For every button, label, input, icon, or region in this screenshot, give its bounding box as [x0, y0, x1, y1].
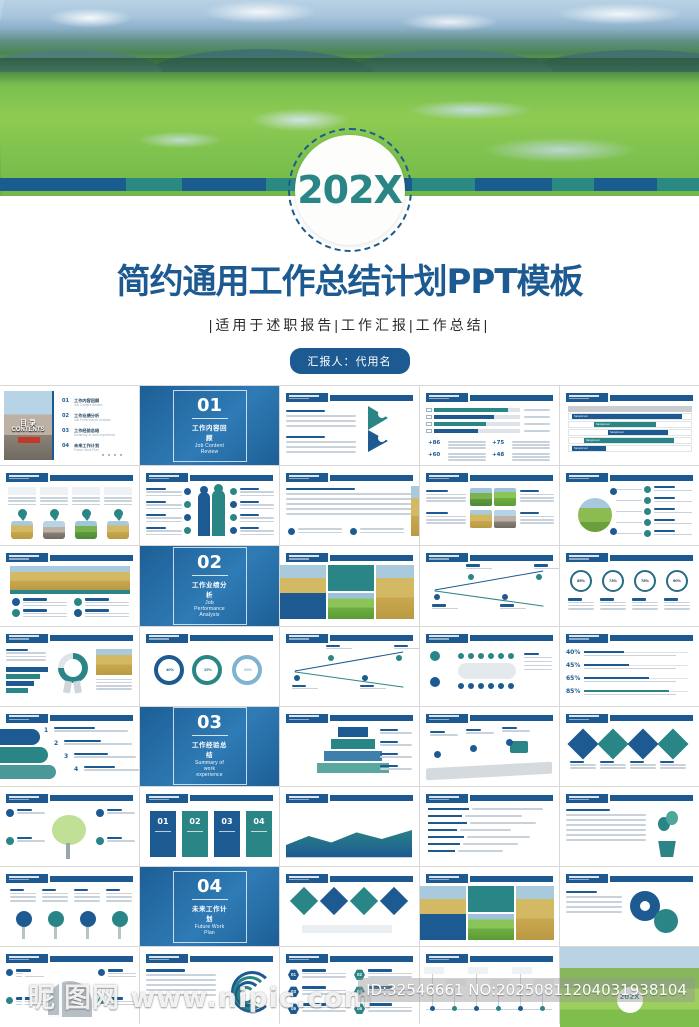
placeholder-text-line [72, 500, 100, 502]
slide-header-bar [50, 555, 133, 561]
section-divider-title-en: Job Performance Analysis [192, 600, 228, 618]
meeting-person-icon [458, 653, 464, 659]
meeting-person-icon [508, 683, 514, 689]
feature-bullet-icon [230, 514, 237, 521]
placeholder-text-line [520, 497, 554, 499]
slide-thumbnail[interactable] [280, 466, 419, 545]
placeholder-text-line [466, 568, 492, 570]
pin-card-title [8, 487, 36, 495]
bullet-icon [350, 528, 357, 535]
slide-header-sub-line [149, 799, 169, 800]
split-block-teal [328, 565, 374, 591]
placeholder-text-line [512, 459, 550, 461]
slide-thumbnail[interactable]: 02工作业绩分析Job Performance Analysis [140, 546, 279, 625]
list-text-line [458, 850, 504, 852]
contents-accent [18, 437, 40, 443]
placeholder-text-line [360, 532, 404, 534]
year-badge-text: 202X [297, 168, 402, 212]
placeholder-text-line [107, 812, 135, 814]
slide-header-tag [566, 714, 608, 723]
slide-thumbnail[interactable] [0, 466, 139, 545]
slide-header-title-line [149, 635, 179, 637]
placeholder-text-line [240, 521, 274, 523]
section-divider-title-cn: 工作经验总结 [192, 739, 228, 759]
placeholder-heading-line [566, 891, 597, 893]
placeholder-text-line [566, 819, 646, 821]
slide-thumbnail[interactable]: 40%35%20% [140, 627, 279, 706]
slide-header-title-line [9, 475, 39, 477]
slide-header [146, 954, 273, 963]
placeholder-text-line [240, 534, 274, 536]
dome-photo [48, 981, 92, 1017]
slide-header-tag [286, 794, 328, 803]
slide-thumbnail[interactable]: 1234 [0, 707, 139, 786]
slide-thumbnail[interactable]: +86+75+60+48 [420, 386, 559, 465]
slide-header-bar [190, 475, 273, 481]
placeholder-heading-line [23, 598, 47, 600]
slide-thumbnail[interactable] [0, 546, 139, 625]
placeholder-text-line [40, 504, 68, 506]
slide-header-tag [426, 393, 468, 402]
tree-trunk [118, 927, 121, 939]
slide-header-sub-line [429, 799, 449, 800]
section-divider-frame: 03工作经验总结Summary of work experience [173, 707, 247, 785]
bar-value-label [524, 423, 550, 425]
placeholder-heading-line [380, 729, 398, 731]
slide-thumbnail[interactable] [560, 707, 699, 786]
slide-header-bar [50, 715, 133, 721]
placeholder-text-line [302, 1007, 346, 1009]
contents-item-en: Future Work Plan [74, 448, 99, 452]
slide-header-title-line [289, 475, 319, 477]
placeholder-heading-line [286, 488, 355, 490]
placeholder-text-line [146, 534, 182, 536]
placeholder-text-line [600, 767, 626, 769]
meeting-person-icon [458, 683, 464, 689]
slide-header [286, 714, 413, 723]
feature-bullet-icon [184, 527, 191, 534]
slide-header-tag [426, 714, 468, 723]
placeholder-heading-line [466, 729, 481, 731]
slide-header-tag [566, 553, 608, 562]
zigzag-line [295, 651, 404, 671]
placeholder-text-line [566, 901, 622, 903]
medal-photo [96, 649, 132, 675]
slide-thumbnail[interactable] [0, 867, 139, 946]
placeholder-heading-line [600, 598, 614, 600]
placeholder-heading-line [107, 809, 122, 811]
slide-header [286, 473, 413, 482]
placeholder-heading-line [106, 889, 120, 891]
placeholder-heading-line [240, 488, 259, 490]
slide-header-tag [286, 634, 328, 643]
section-divider-rule [192, 418, 228, 419]
slide-header [426, 954, 553, 963]
placeholder-heading-line [146, 514, 166, 516]
slide-header-tag [426, 954, 468, 963]
carousel-connector [616, 511, 642, 512]
slide-header-title-line [429, 555, 459, 557]
split-photo [468, 914, 514, 940]
slide-header-bar [50, 956, 133, 962]
slide-header [426, 553, 553, 562]
bar-fill [584, 677, 649, 679]
diamond-icon [597, 728, 628, 759]
slide-header-bar [610, 555, 693, 561]
slide-header-bar [470, 795, 553, 801]
number-card-value: 01 [150, 817, 176, 826]
placeholder-text-line [524, 661, 552, 663]
map-pin-icon [82, 509, 91, 521]
slide-header [566, 393, 693, 402]
placeholder-text-line [146, 517, 182, 519]
placeholder-text-line [146, 504, 182, 506]
slide-header [426, 794, 553, 803]
placeholder-heading-line [240, 501, 259, 503]
placeholder-heading-line [380, 741, 398, 743]
meeting-person-icon [478, 653, 484, 659]
slide-header-bar [610, 795, 693, 801]
slide-header-tag [6, 714, 48, 723]
placeholder-text-line [16, 1001, 44, 1003]
slide-header-title-line [569, 796, 599, 798]
pyramid-layer [338, 727, 368, 737]
slide-header-tag [426, 634, 468, 643]
placeholder-text-line [74, 756, 136, 758]
placeholder-text-line [96, 685, 132, 687]
placeholder-text-line [448, 441, 486, 443]
placeholder-text-line [566, 839, 646, 841]
placeholder-heading-line [108, 997, 123, 999]
hex-number-icon: 06 [354, 1003, 365, 1014]
contents-item-number: 01 [62, 398, 69, 404]
slide-header-tag [566, 393, 608, 402]
placeholder-text-line [430, 734, 458, 736]
pin-card-title [40, 487, 68, 495]
pyramid-layer [331, 739, 375, 749]
placeholder-text-line [630, 767, 656, 769]
bar-label-box [426, 429, 432, 433]
placeholder-text-line [426, 519, 466, 521]
placeholder-text-line [106, 893, 132, 895]
placeholder-heading-line [302, 1003, 326, 1005]
slide-thumbnail[interactable] [140, 466, 279, 545]
slide-header-sub-line [9, 478, 29, 479]
carousel-connector [616, 533, 642, 534]
placeholder-heading-line [654, 486, 675, 488]
slide-header-tag [286, 714, 328, 723]
hand-shape [0, 747, 48, 763]
number-card-rule [155, 831, 171, 832]
placeholder-heading-line [286, 410, 325, 412]
section-divider-frame: 01工作内容回顾Job Content Review [173, 390, 247, 462]
slide-header-title-line [569, 635, 599, 637]
slide-header-title-line [289, 555, 319, 557]
placeholder-text-line [146, 979, 216, 981]
slide-header-bar [470, 956, 553, 962]
placeholder-text-line [584, 668, 676, 670]
tree-canopy [112, 911, 128, 927]
placeholder-text-line [664, 608, 690, 610]
slide-header [146, 794, 273, 803]
placeholder-text-line [380, 732, 412, 734]
slide-thumbnail[interactable]: 目 录CONTENTS01工作内容回顾Job Content Review02工… [0, 386, 139, 465]
slide-header-sub-line [569, 558, 589, 559]
slide-thumbnail[interactable] [420, 466, 559, 545]
slide-thumbnail[interactable] [560, 787, 699, 866]
growth-stat-number: +75 [492, 440, 504, 446]
slide-thumbnail[interactable] [280, 867, 419, 946]
placeholder-heading-line [660, 761, 674, 763]
placeholder-text-line [448, 459, 486, 461]
placeholder-heading-line [524, 653, 539, 655]
slide-thumbnail[interactable] [560, 867, 699, 946]
slide-thumbnail[interactable] [0, 627, 139, 706]
split-block-teal [468, 886, 514, 912]
step-number: 4 [74, 766, 78, 773]
section-divider-number: 01 [192, 397, 228, 415]
placeholder-text-line [286, 425, 356, 427]
zigzag-line [294, 671, 403, 687]
slide-header-title-line [569, 715, 599, 717]
placeholder-text-line [23, 602, 67, 604]
slide-thumbnail[interactable] [420, 707, 559, 786]
pin-card-title [104, 487, 132, 495]
slide-thumbnail[interactable]: 03工作经验总结Summary of work experience [140, 707, 279, 786]
tree-feature-icon [6, 837, 14, 845]
slide-thumbnail[interactable]: Sample textSample textSample textSample … [560, 386, 699, 465]
number-card-value: 04 [246, 817, 272, 826]
slide-thumbnail[interactable] [420, 546, 559, 625]
slide-header [566, 714, 693, 723]
arrow-shape-teal [368, 406, 388, 430]
slide-header-title-line [9, 555, 39, 557]
placeholder-heading-line [240, 527, 259, 529]
placeholder-text-line [240, 495, 274, 497]
slide-header [6, 553, 133, 562]
slide-header-title-line [429, 635, 459, 637]
slide-thumbnail[interactable] [280, 787, 419, 866]
slide-header-sub-line [429, 879, 449, 880]
slide-header-tag [146, 473, 188, 482]
slide-thumbnail[interactable] [280, 386, 419, 465]
list-text-line [467, 836, 529, 838]
slide-header-bar [470, 395, 553, 401]
bar-label-box [426, 415, 432, 419]
meeting-table [458, 663, 516, 679]
diamond-shape [380, 887, 408, 915]
list-heading-bar [428, 850, 455, 852]
pyramid-layer [324, 751, 382, 761]
slide-header-sub-line [429, 959, 449, 960]
slide-thumbnail[interactable] [0, 787, 139, 866]
diamond-shape [290, 887, 318, 915]
slide-header-bar [330, 475, 413, 481]
pyramid-layer [317, 763, 389, 773]
slide-thumbnail[interactable] [420, 787, 559, 866]
contents-item-en: Job Performance Analysis [74, 418, 111, 422]
placeholder-heading-line [566, 809, 610, 811]
placeholder-heading-line [64, 740, 101, 742]
stripe-segment [475, 178, 552, 191]
slide-header-title-line [9, 876, 39, 878]
placeholder-text-line [660, 764, 686, 766]
placeholder-text-line [292, 688, 318, 690]
slide-thumbnail[interactable] [420, 627, 559, 706]
photo-caption-bar [10, 590, 130, 594]
slide-thumbnail[interactable]: 01020304 [140, 787, 279, 866]
bullet-icon [98, 969, 105, 976]
placeholder-text-line [298, 532, 342, 534]
placeholder-text-line [23, 605, 67, 607]
slide-header-tag [286, 954, 328, 963]
slide-thumbnail[interactable] [280, 707, 419, 786]
road-milestone [470, 745, 477, 752]
zigzag-node [328, 655, 334, 661]
placeholder-text-line [146, 521, 182, 523]
slide-header-bar [190, 795, 273, 801]
placeholder-heading-line [368, 1003, 392, 1005]
slide-header [566, 634, 693, 643]
placeholder-text-line [10, 893, 36, 895]
slide-thumbnail[interactable] [280, 627, 419, 706]
placeholder-heading-line [426, 490, 448, 492]
placeholder-text-line [426, 494, 466, 496]
placeholder-text-line [42, 893, 68, 895]
slide-header-bar [610, 715, 693, 721]
placeholder-text-line [85, 602, 129, 604]
slide-header-title-line [569, 876, 599, 878]
area-chart [286, 827, 412, 857]
bar-fill [584, 664, 629, 666]
slide-header-title-line [429, 475, 459, 477]
slide-thumbnail[interactable]: 01工作内容回顾Job Content Review [140, 386, 279, 465]
slide-thumbnail[interactable]: 40%45%65%85% [560, 627, 699, 706]
pin-photo [75, 521, 97, 539]
contents-item-number: 04 [62, 443, 69, 449]
quad-photo [470, 488, 492, 506]
slide-header-tag [6, 553, 48, 562]
placeholder-text-line [146, 994, 216, 996]
list-heading-bar [428, 843, 460, 845]
section-divider-title-en: Job Content Review [192, 443, 228, 455]
arrow-shape-blue [368, 430, 388, 452]
slide-header-tag [6, 634, 48, 643]
placeholder-text-line [108, 1001, 136, 1003]
slide-header-bar [50, 795, 133, 801]
placeholder-text-line [524, 657, 552, 659]
placeholder-text-line [566, 824, 646, 826]
road-milestone [506, 739, 513, 746]
slide-header [6, 874, 133, 883]
slide-header-title-line [149, 475, 179, 477]
slide-thumbnail[interactable] [420, 867, 559, 946]
placeholder-heading-line [302, 969, 326, 971]
bar-fill [584, 651, 624, 653]
slide-header-tag [286, 393, 328, 402]
placeholder-text-line [524, 665, 552, 667]
placeholder-text-line [570, 767, 596, 769]
bullet-icon [6, 997, 13, 1004]
slide-header-bar [50, 876, 133, 882]
bar-percent-label: 85% [566, 688, 580, 695]
placeholder-text-line [96, 688, 132, 690]
step-number: 2 [54, 740, 58, 747]
number-card-value: 03 [214, 817, 240, 826]
list-text-line [463, 843, 518, 845]
slide-header-sub-line [149, 638, 169, 639]
placeholder-text-line [534, 568, 559, 570]
stripe-segment [594, 178, 657, 191]
diamond-icon [627, 728, 658, 759]
slide-thumbnail[interactable] [280, 546, 419, 625]
placeholder-text-line [600, 764, 626, 766]
slide-thumbnail[interactable]: 04未来工作计划Future Work Plan [140, 867, 279, 946]
slide-thumbnail[interactable] [0, 947, 139, 1026]
placeholder-heading-line [240, 514, 259, 516]
placeholder-text-line [426, 497, 466, 499]
tree-feature-icon [96, 837, 104, 845]
placeholder-text-line [520, 516, 554, 518]
tree-canopy [80, 911, 96, 927]
placeholder-text-line [104, 504, 132, 506]
tree-trunk [22, 927, 25, 939]
timeline-card [512, 967, 532, 974]
placeholder-text-line [368, 1007, 412, 1009]
plant-leaf [666, 811, 678, 825]
placeholder-text-line [502, 730, 530, 732]
person-silhouette-right [212, 490, 225, 536]
slide-header-tag [6, 954, 48, 963]
slide-header [566, 794, 693, 803]
bullet-icon [98, 997, 105, 1004]
contents-item-en: Job Content Review [74, 403, 103, 407]
placeholder-text-line [64, 743, 132, 745]
slide-header-sub-line [289, 638, 309, 639]
pin-photo [11, 521, 33, 539]
feature-bullet-icon [230, 488, 237, 495]
placeholder-text-line [6, 652, 46, 654]
placeholder-text-line [394, 648, 419, 650]
section-divider-number: 03 [192, 714, 228, 732]
placeholder-text-line [16, 976, 44, 978]
placeholder-heading-line [432, 604, 446, 606]
slide-header-sub-line [149, 478, 169, 479]
section-divider-number: 04 [192, 878, 228, 896]
placeholder-text-line [107, 840, 135, 842]
gantt-bar: Sample text [594, 422, 656, 427]
slide-thumbnail[interactable] [140, 947, 279, 1026]
carousel-step-icon [644, 519, 651, 526]
placeholder-text-line [632, 602, 658, 604]
carousel-step-icon [644, 530, 651, 537]
placeholder-text-line [85, 605, 129, 607]
slide-thumbnail[interactable]: 85%73%78%90% [560, 546, 699, 625]
placeholder-text-line [570, 764, 596, 766]
placeholder-text-line [566, 911, 622, 913]
slide-header-title-line [429, 876, 459, 878]
placeholder-text-line [6, 656, 46, 658]
placeholder-heading-line [42, 889, 56, 891]
placeholder-text-line [654, 512, 692, 514]
slide-header-tag [426, 794, 468, 803]
person-silhouette-left [198, 492, 210, 536]
slide-thumbnail[interactable] [560, 466, 699, 545]
contents-item-en: Summary of work experience [74, 433, 115, 437]
placeholder-heading-line [17, 809, 32, 811]
meeting-person-icon [498, 683, 504, 689]
placeholder-text-line [302, 990, 346, 992]
